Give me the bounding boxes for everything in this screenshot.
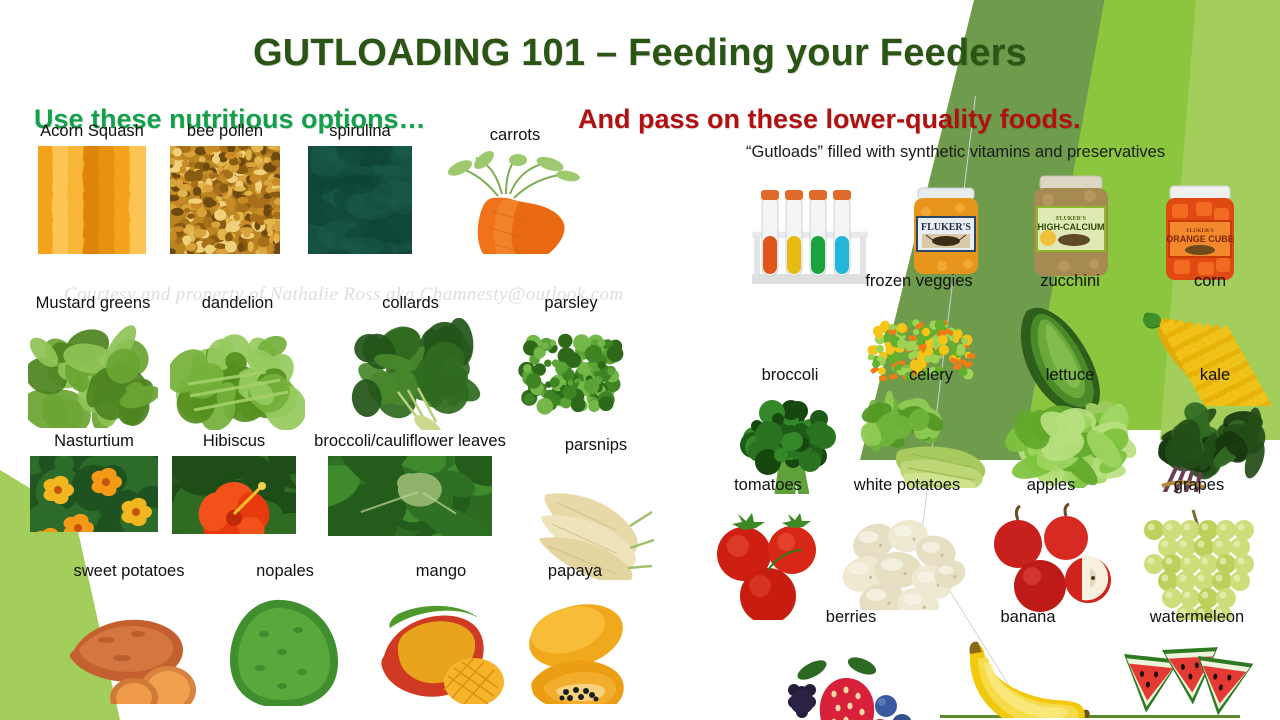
food-label: mango xyxy=(416,562,466,581)
food-label: parsnips xyxy=(565,436,627,455)
food-label: sweet potatoes xyxy=(74,562,185,581)
food-label: Mustard greens xyxy=(36,294,151,313)
food-label: lettuce xyxy=(1046,366,1095,385)
mustard-greens-image xyxy=(28,318,158,428)
nasturtium-image xyxy=(30,456,158,532)
food-label: parsley xyxy=(544,294,597,313)
berries-image xyxy=(776,632,926,720)
celery-image xyxy=(856,390,1006,488)
food-label: Hibiscus xyxy=(203,432,265,451)
food-label: frozen veggies xyxy=(865,272,972,291)
food-label: Acorn Squash xyxy=(40,122,144,141)
bad-column-heading: And pass on these lower-quality foods. xyxy=(578,104,1081,135)
nopales-image xyxy=(220,586,350,706)
food-label: nopales xyxy=(256,562,314,581)
page-title: GUTLOADING 101 – Feeding your Feeders xyxy=(0,32,1280,75)
white-potatoes-image xyxy=(836,500,978,610)
acorn-squash-image xyxy=(38,146,146,254)
papaya-image xyxy=(504,586,646,704)
food-label: tomatoes xyxy=(734,476,802,495)
food-label: collards xyxy=(382,294,439,313)
watermelon-image xyxy=(1118,632,1276,718)
food-label: apples xyxy=(1027,476,1076,495)
bee-pollen-image xyxy=(170,146,280,254)
brassica-leaves-image xyxy=(328,456,492,536)
test-tube-rack-image xyxy=(744,174,876,288)
food-label: watermeleon xyxy=(1150,608,1244,627)
flukers-cricket-jar-image: FLUKER'S xyxy=(902,172,992,288)
grapes-image xyxy=(1124,500,1274,620)
food-label: berries xyxy=(826,608,876,627)
food-label: zucchini xyxy=(1040,272,1100,291)
food-label: spirulina xyxy=(329,122,390,141)
infographic-page: GUTLOADING 101 – Feeding your Feeders Us… xyxy=(0,0,1280,720)
gutload-caption: “Gutloads” filled with synthetic vitamin… xyxy=(746,143,1165,162)
food-label: banana xyxy=(1000,608,1055,627)
mango-image xyxy=(374,586,508,704)
food-label: bee pollen xyxy=(187,122,263,141)
food-label: celery xyxy=(909,366,953,385)
spirulina-image xyxy=(308,146,412,254)
banana-image xyxy=(954,632,1102,718)
hibiscus-image xyxy=(172,456,296,534)
flukers-high-calcium-image: FLUKER'S HIGH-CALCIUM xyxy=(1020,166,1122,288)
food-label: dandelion xyxy=(202,294,274,313)
food-label: grapes xyxy=(1174,476,1224,495)
food-label: broccoli/cauliflower leaves xyxy=(314,432,506,451)
svg-text:ORANGE CUBE: ORANGE CUBE xyxy=(1166,234,1234,244)
food-label: kale xyxy=(1200,366,1230,385)
parsley-image xyxy=(506,318,636,428)
food-label: white potatoes xyxy=(854,476,960,495)
food-label: carrots xyxy=(490,126,540,145)
food-label: papaya xyxy=(548,562,602,581)
dandelion-image xyxy=(170,318,305,430)
food-label: corn xyxy=(1194,272,1226,291)
food-label: broccoli xyxy=(762,366,819,385)
sweet-potatoes-image xyxy=(56,586,202,704)
collards-image xyxy=(338,318,483,430)
lettuce-image xyxy=(1004,390,1136,488)
apples-image xyxy=(978,500,1124,612)
svg-text:FLUKER'S: FLUKER'S xyxy=(921,222,971,233)
tomatoes-image xyxy=(700,500,836,620)
carrots-image xyxy=(440,150,590,254)
flukers-orange-cube-image: FLUKER'S ORANGE CUBE xyxy=(1152,172,1248,288)
food-label: Nasturtium xyxy=(54,432,134,451)
